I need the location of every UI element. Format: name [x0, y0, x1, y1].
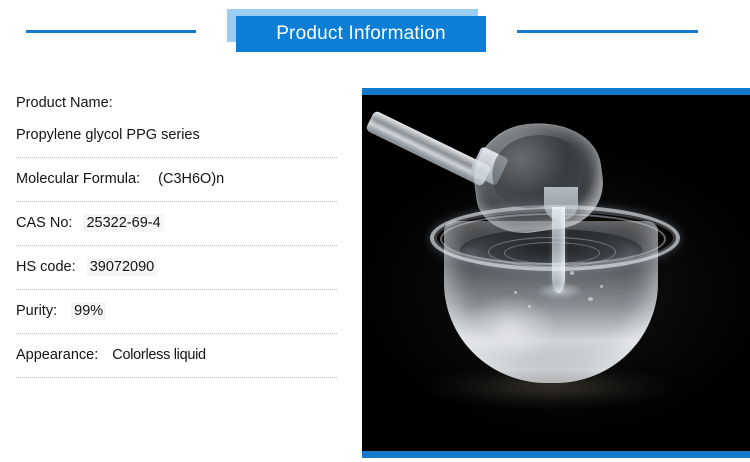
photo-scene — [362, 95, 750, 451]
spec-label-hs-code: HS code: — [16, 259, 76, 275]
spec-value-appearance: Colorless liquid — [112, 347, 206, 363]
spec-row-purity: Purity: 99% — [16, 304, 337, 319]
page-title: Product Information — [236, 16, 486, 52]
spec-divider-1 — [16, 157, 337, 158]
specification-list: Product Name: Propylene glycol PPG serie… — [0, 88, 350, 398]
spec-row-product-name-value: Propylene glycol PPG series — [16, 128, 337, 143]
liquid-droplet — [588, 297, 593, 301]
spec-divider-5 — [16, 333, 337, 334]
spec-value-product-name: Propylene glycol PPG series — [16, 128, 337, 143]
spec-row-molecular-formula: Molecular Formula: (C3H6O)n — [16, 172, 337, 187]
liquid-droplet — [600, 285, 603, 288]
spec-value-molecular-formula: (C3H6O)n — [158, 171, 224, 187]
spec-divider-4 — [16, 289, 337, 290]
spec-divider-6 — [16, 377, 337, 378]
spec-divider-3 — [16, 245, 337, 246]
spec-label-product-name: Product Name: — [16, 96, 337, 111]
page-header: Product Information — [0, 0, 750, 76]
ladle-handle — [365, 110, 491, 187]
spec-value-cas-no: 25322-69-4 — [83, 214, 163, 232]
spec-row-hs-code: HS code: 39072090 — [16, 260, 337, 275]
liquid-droplet — [514, 291, 517, 294]
photo-band-bottom — [362, 451, 750, 458]
liquid-droplet — [528, 305, 531, 308]
spec-row-cas-no: CAS No: 25322-69-4 — [16, 216, 337, 231]
product-information-page: Product Information Product Name: Propyl… — [0, 0, 750, 462]
spec-value-purity: 99% — [71, 302, 106, 320]
spec-value-hs-code: 39072090 — [87, 258, 158, 276]
liquid-droplet — [570, 271, 574, 275]
spec-label-cas-no: CAS No: — [16, 215, 72, 231]
spec-label-appearance: Appearance: — [16, 347, 98, 363]
bowl-highlight — [464, 295, 556, 361]
pouring-liquid-stream — [552, 207, 565, 293]
product-photo — [362, 88, 750, 458]
spec-row-product-name: Product Name: — [16, 96, 337, 111]
spec-divider-2 — [16, 201, 337, 202]
header-rule-right — [517, 30, 698, 33]
photo-band-top — [362, 88, 750, 95]
spec-label-molecular-formula: Molecular Formula: — [16, 171, 140, 187]
spec-label-purity: Purity: — [16, 303, 57, 319]
header-rule-left — [26, 30, 196, 33]
spec-row-appearance: Appearance: Colorless liquid — [16, 348, 337, 363]
liquid-splash — [538, 283, 582, 299]
